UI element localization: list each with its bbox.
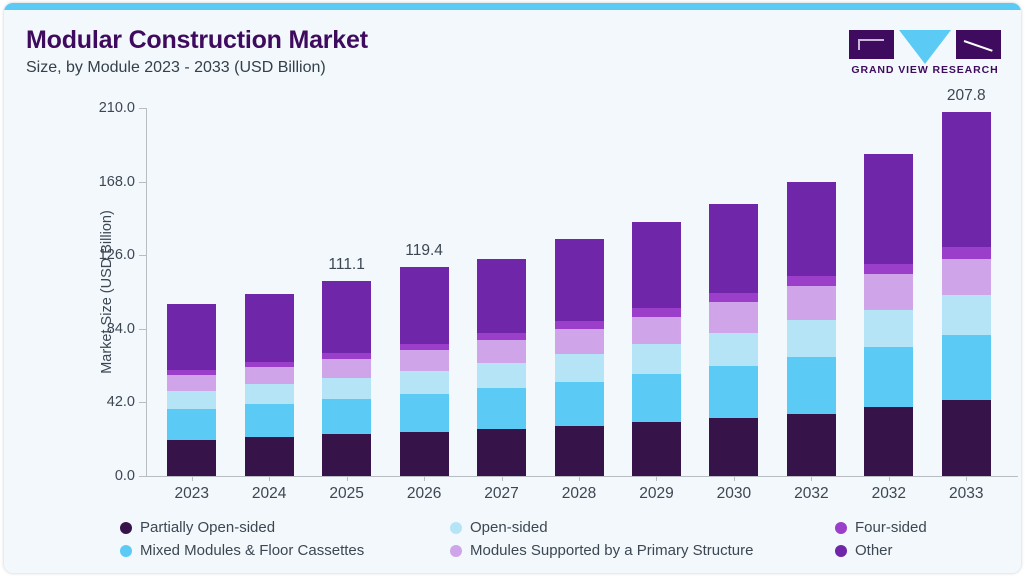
chart-legend: Partially Open-sidedOpen-sidedFour-sided… — [120, 516, 1000, 562]
logo-wordmark: GRAND VIEW RESEARCH — [849, 64, 1001, 76]
x-axis-tick — [347, 476, 348, 481]
stacked-bar[interactable] — [400, 267, 449, 476]
bar-segment[interactable] — [400, 350, 449, 371]
bar-group[interactable]: 119.42026 — [400, 108, 449, 476]
bar-segment[interactable] — [632, 317, 681, 345]
bar-segment[interactable] — [245, 294, 294, 362]
y-axis-tick-label: 84.0 — [107, 321, 135, 337]
bar-segment[interactable] — [555, 382, 604, 426]
bar-segment[interactable] — [864, 347, 913, 407]
bar-value-label: 207.8 — [947, 87, 986, 105]
legend-label: Modules Supported by a Primary Structure — [470, 542, 753, 559]
bar-segment[interactable] — [942, 112, 991, 248]
bar-segment[interactable] — [787, 320, 836, 356]
stacked-bar[interactable] — [787, 182, 836, 476]
bar-segment[interactable] — [167, 409, 216, 439]
bar-segment[interactable] — [555, 354, 604, 382]
bar-segment[interactable] — [322, 359, 371, 378]
bar-group[interactable]: 2023 — [167, 108, 216, 476]
logo-marks — [849, 30, 1001, 60]
legend-label: Open-sided — [470, 519, 548, 536]
legend-item[interactable]: Mixed Modules & Floor Cassettes — [120, 542, 450, 559]
logo-triangle-icon — [899, 30, 951, 64]
bar-segment[interactable] — [864, 310, 913, 348]
x-axis-tick-label: 2025 — [329, 485, 363, 503]
bar-segment[interactable] — [709, 366, 758, 419]
bar-segment[interactable] — [864, 264, 913, 275]
x-axis-tick-label: 2027 — [484, 485, 518, 503]
bar-group[interactable]: 2032 — [864, 108, 913, 476]
stacked-bar[interactable] — [942, 112, 991, 476]
legend-swatch-icon — [835, 545, 847, 557]
legend-label: Other — [855, 542, 893, 559]
bar-segment[interactable] — [555, 321, 604, 329]
bar-segment[interactable] — [555, 329, 604, 354]
bar-segment[interactable] — [942, 295, 991, 335]
legend-label: Partially Open-sided — [140, 519, 275, 536]
bar-value-label: 111.1 — [328, 256, 365, 274]
bar-segment[interactable] — [942, 400, 991, 476]
x-axis-tick — [889, 476, 890, 481]
y-axis-tick-label: 168.0 — [99, 174, 135, 190]
stacked-bar[interactable] — [555, 239, 604, 476]
legend-swatch-icon — [450, 545, 462, 557]
bar-segment[interactable] — [400, 371, 449, 394]
x-axis-tick-label: 2024 — [252, 485, 286, 503]
x-axis-tick — [192, 476, 193, 481]
chart-card: Modular Construction Market Size, by Mod… — [4, 3, 1021, 573]
bar-segment[interactable] — [632, 344, 681, 374]
stacked-bar[interactable] — [864, 154, 913, 476]
bar-segment[interactable] — [245, 367, 294, 385]
x-axis-tick-label: 2032 — [794, 485, 828, 503]
y-axis-tick — [139, 476, 147, 477]
bar-group[interactable]: 2027 — [477, 108, 526, 476]
legend-label: Four-sided — [855, 519, 927, 536]
bar-segment[interactable] — [167, 440, 216, 476]
chart-header: Modular Construction Market Size, by Mod… — [26, 25, 1001, 87]
bar-segment[interactable] — [787, 357, 836, 414]
legend-item[interactable]: Modules Supported by a Primary Structure — [450, 542, 835, 559]
chart-plot-area: Market Size (USD Billion) 0.042.084.0126… — [147, 108, 999, 476]
bar-segment[interactable] — [245, 404, 294, 437]
x-axis-tick-label: 2023 — [174, 485, 208, 503]
y-axis-tick-label: 126.0 — [99, 247, 135, 263]
bar-segment[interactable] — [477, 388, 526, 429]
stacked-bar[interactable] — [245, 294, 294, 476]
y-axis-tick — [139, 402, 147, 403]
y-axis-title: Market Size (USD Billion) — [99, 210, 115, 374]
x-axis-tick-label: 2032 — [872, 485, 906, 503]
legend-label: Mixed Modules & Floor Cassettes — [140, 542, 364, 559]
bar-segment[interactable] — [864, 154, 913, 264]
bar-segment[interactable] — [864, 407, 913, 476]
bar-segment[interactable] — [632, 308, 681, 316]
x-axis-tick — [579, 476, 580, 481]
bar-segment[interactable] — [942, 335, 991, 400]
legend-item[interactable]: Partially Open-sided — [120, 519, 450, 536]
stacked-bar[interactable] — [632, 222, 681, 476]
bar-group[interactable]: 2024 — [245, 108, 294, 476]
bar-segment[interactable] — [400, 432, 449, 476]
x-axis-tick — [811, 476, 812, 481]
bar-group[interactable]: 207.82033 — [942, 108, 991, 476]
bar-group[interactable]: 2028 — [555, 108, 604, 476]
brand-logo: GRAND VIEW RESEARCH — [849, 30, 1001, 82]
x-axis-tick — [966, 476, 967, 481]
x-axis-tick — [656, 476, 657, 481]
x-axis-tick-label: 2026 — [407, 485, 441, 503]
bar-group[interactable]: 2032 — [787, 108, 836, 476]
bar-segment[interactable] — [477, 259, 526, 334]
y-axis-tick-label: 42.0 — [107, 394, 135, 410]
bar-group[interactable]: 2029 — [632, 108, 681, 476]
x-axis-tick-label: 2028 — [562, 485, 596, 503]
bar-segment[interactable] — [709, 418, 758, 475]
bar-segment[interactable] — [787, 286, 836, 320]
bar-segment[interactable] — [709, 302, 758, 333]
bar-segment[interactable] — [400, 267, 449, 344]
stacked-bar[interactable] — [477, 259, 526, 476]
bar-segment[interactable] — [245, 384, 294, 404]
legend-swatch-icon — [120, 522, 132, 534]
bar-segment[interactable] — [477, 429, 526, 476]
bar-segment[interactable] — [709, 293, 758, 302]
bar-group[interactable]: 2030 — [709, 108, 758, 476]
y-axis-tick — [139, 182, 147, 183]
legend-swatch-icon — [120, 545, 132, 557]
logo-right-rect-icon — [956, 30, 1001, 59]
bar-segment[interactable] — [477, 333, 526, 340]
x-axis-tick-label: 2030 — [717, 485, 751, 503]
bar-segment[interactable] — [864, 274, 913, 309]
y-axis-tick — [139, 255, 147, 256]
bar-segment[interactable] — [942, 259, 991, 296]
bar-segment[interactable] — [787, 414, 836, 476]
y-axis-line — [146, 108, 147, 476]
accent-top-bar — [4, 3, 1021, 10]
bar-segment[interactable] — [555, 239, 604, 321]
bar-segment[interactable] — [709, 204, 758, 292]
legend-swatch-icon — [835, 522, 847, 534]
x-axis-tick — [502, 476, 503, 481]
bar-segment[interactable] — [167, 304, 216, 370]
x-axis-tick — [424, 476, 425, 481]
legend-swatch-icon — [450, 522, 462, 534]
bar-segment[interactable] — [322, 399, 371, 434]
bar-segment[interactable] — [477, 363, 526, 388]
stacked-bar[interactable] — [322, 281, 371, 476]
legend-item[interactable]: Open-sided — [450, 519, 835, 536]
bar-group[interactable]: 111.12025 — [322, 108, 371, 476]
bar-segment[interactable] — [787, 276, 836, 286]
y-axis-tick — [139, 108, 147, 109]
bar-segment[interactable] — [632, 422, 681, 476]
bar-segment[interactable] — [400, 394, 449, 432]
x-axis-tick — [734, 476, 735, 481]
legend-item[interactable]: Other — [835, 542, 995, 559]
bar-segment[interactable] — [322, 378, 371, 399]
bar-segment[interactable] — [632, 374, 681, 422]
bar-segment[interactable] — [477, 340, 526, 363]
bar-segment[interactable] — [322, 281, 371, 352]
bar-segment[interactable] — [167, 375, 216, 391]
bar-segment[interactable] — [245, 437, 294, 476]
bar-segment[interactable] — [942, 247, 991, 258]
stacked-bar[interactable] — [167, 304, 216, 476]
x-axis-tick — [269, 476, 270, 481]
y-axis-tick — [139, 329, 147, 330]
stacked-bar[interactable] — [709, 204, 758, 476]
bar-segment[interactable] — [787, 182, 836, 277]
logo-left-rect-icon — [849, 30, 894, 59]
bar-segment[interactable] — [322, 434, 371, 476]
x-axis-tick-label: 2029 — [639, 485, 673, 503]
bar-segment[interactable] — [555, 426, 604, 476]
x-axis-tick-label: 2033 — [949, 485, 983, 503]
legend-item[interactable]: Four-sided — [835, 519, 995, 536]
bar-segment[interactable] — [167, 391, 216, 409]
bar-segment[interactable] — [632, 222, 681, 308]
bar-segment[interactable] — [709, 333, 758, 366]
y-axis-tick-label: 210.0 — [99, 100, 135, 116]
bar-value-label: 119.4 — [405, 242, 443, 260]
y-axis-tick-label: 0.0 — [115, 468, 135, 484]
x-axis-line — [146, 476, 1018, 477]
